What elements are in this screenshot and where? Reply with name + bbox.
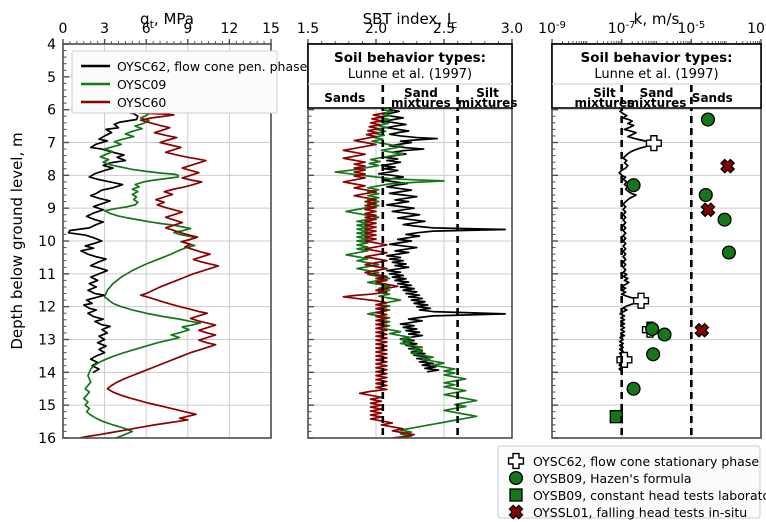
legend-marker-label: OYSC62, flow cone stationary phase bbox=[533, 454, 759, 469]
ytick-label: 11 bbox=[38, 267, 56, 283]
xtick-label: 10-9 bbox=[538, 20, 566, 37]
circle-icon bbox=[646, 323, 659, 336]
marker-circle bbox=[627, 382, 640, 395]
title-rest: , MPa bbox=[154, 10, 194, 28]
panel-title: k, m/s bbox=[634, 10, 680, 28]
marker-circle bbox=[718, 213, 731, 226]
square-icon bbox=[510, 489, 522, 501]
legend-marker-label: OYSB09, constant head tests laboratory bbox=[533, 488, 766, 503]
sbt-category-label: mixtures bbox=[575, 96, 635, 110]
panel-k: Soil behavior types:Lunne et al. (1997)S… bbox=[552, 39, 761, 438]
legend-line-label: OYSC09 bbox=[117, 77, 166, 92]
legend-marker-label: OYSSL01, falling head tests in-situ bbox=[533, 505, 747, 520]
ytick-label: 10 bbox=[38, 234, 56, 250]
xtick-label: 10-5 bbox=[677, 20, 705, 37]
ytick-label: 13 bbox=[38, 333, 56, 349]
legend-markers: OYSC62, flow cone stationary phaseOYSB09… bbox=[498, 446, 766, 520]
x-icon bbox=[695, 324, 708, 337]
y-axis-label: Depth below ground level, m bbox=[8, 132, 26, 349]
legend-circle-icon bbox=[510, 472, 523, 485]
xtick-base: 10 bbox=[538, 21, 556, 37]
ytick-label: 5 bbox=[47, 70, 56, 86]
x-icon bbox=[721, 160, 734, 173]
xtick-base: 10 bbox=[608, 21, 626, 37]
circle-icon bbox=[723, 246, 736, 259]
xtick-exponent: -5 bbox=[695, 20, 705, 31]
sbt-title: Soil behavior types: bbox=[580, 50, 732, 66]
xtick-label: 10-3 bbox=[747, 20, 766, 37]
xtick-label: 3.0 bbox=[501, 21, 523, 37]
figure-root: Depth below ground level, m4567891011121… bbox=[0, 0, 766, 522]
circle-icon bbox=[658, 328, 671, 341]
sbt-category-label: Sands bbox=[692, 91, 733, 105]
circle-icon bbox=[627, 179, 640, 192]
marker-circle bbox=[723, 246, 736, 259]
ytick-label: 12 bbox=[38, 300, 56, 316]
xtick-label: 0 bbox=[59, 21, 68, 37]
legend-line-label: OYSC62, flow cone pen. phase bbox=[117, 59, 308, 74]
title-main: q bbox=[140, 10, 150, 28]
legend-x-icon bbox=[509, 505, 522, 518]
marker-circle bbox=[647, 348, 660, 361]
ytick-label: 7 bbox=[47, 136, 56, 152]
x-icon bbox=[509, 505, 522, 518]
ytick-label: 14 bbox=[38, 365, 56, 381]
legend-lines: OYSC62, flow cone pen. phaseOYSC09OYSC60 bbox=[72, 51, 308, 113]
sbt-category-label: mixtures bbox=[391, 96, 451, 110]
x-icon bbox=[701, 203, 714, 216]
circle-icon bbox=[702, 113, 715, 126]
circle-icon bbox=[699, 189, 712, 202]
panel-ic: Soil behavior types:Lunne et al. (1997)S… bbox=[308, 39, 517, 438]
marker-circle bbox=[646, 323, 659, 336]
circle-icon bbox=[718, 213, 731, 226]
sbt-subtitle: Lunne et al. (1997) bbox=[594, 67, 718, 82]
sbt-category-label: mixtures bbox=[627, 96, 687, 110]
marker-x bbox=[701, 203, 714, 216]
xtick-label: 15 bbox=[262, 21, 280, 37]
xtick-exponent: -9 bbox=[556, 20, 566, 31]
panel-title: SBT index, Ic bbox=[363, 10, 458, 31]
legend-square-icon bbox=[510, 489, 522, 501]
ytick-label: 9 bbox=[47, 201, 56, 217]
title-main: SBT index, I bbox=[363, 10, 452, 28]
xtick-base: 10 bbox=[747, 21, 765, 37]
ytick-label: 15 bbox=[38, 398, 56, 414]
sbt-category-label: Sands bbox=[324, 91, 365, 105]
xtick-label: 10-7 bbox=[608, 20, 636, 37]
marker-circle bbox=[627, 179, 640, 192]
ytick-label: 4 bbox=[47, 37, 56, 53]
marker-x bbox=[721, 160, 734, 173]
ytick-label: 6 bbox=[47, 103, 56, 119]
title-sub: c bbox=[451, 18, 457, 31]
legend-line-label: OYSC60 bbox=[117, 95, 166, 110]
ytick-label: 8 bbox=[47, 168, 56, 184]
sbt-category-label: mixtures bbox=[458, 96, 518, 110]
xtick-label: 12 bbox=[220, 21, 238, 37]
ytick-label: 16 bbox=[38, 431, 56, 447]
xtick-label: 1.5 bbox=[297, 21, 319, 37]
marker-x bbox=[695, 324, 708, 337]
panel-title: qt, MPa bbox=[140, 10, 194, 31]
marker-circle bbox=[699, 189, 712, 202]
sbt-title: Soil behavior types: bbox=[334, 50, 486, 66]
xtick-label: 3 bbox=[100, 21, 109, 37]
xtick-base: 10 bbox=[677, 21, 695, 37]
marker-circle bbox=[658, 328, 671, 341]
sbt-subtitle: Lunne et al. (1997) bbox=[348, 67, 472, 82]
circle-icon bbox=[627, 382, 640, 395]
legend-marker-label: OYSB09, Hazen's formula bbox=[533, 471, 692, 486]
circle-icon bbox=[647, 348, 660, 361]
marker-circle bbox=[702, 113, 715, 126]
circle-icon bbox=[510, 472, 523, 485]
